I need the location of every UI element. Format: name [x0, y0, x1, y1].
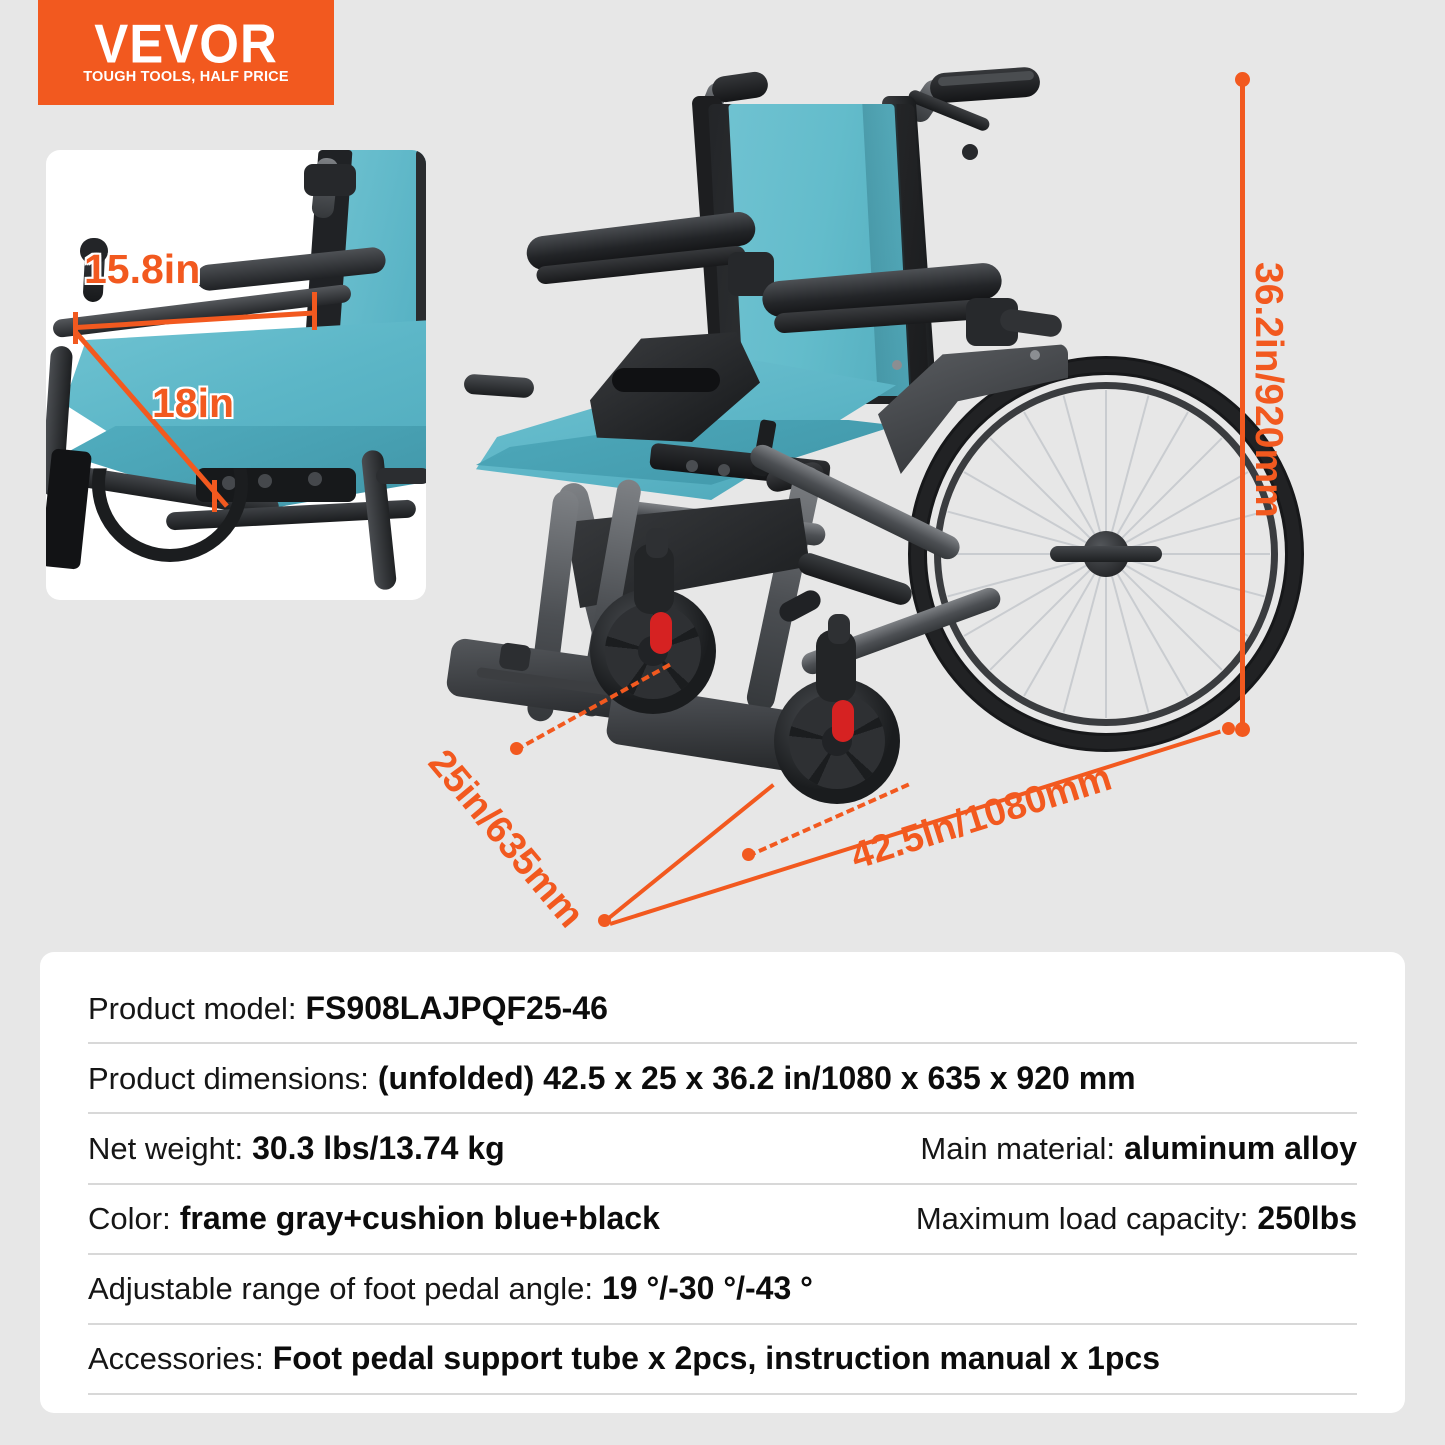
spec-value: 30.3 lbs/13.74 kg	[252, 1130, 505, 1167]
spec-label: Main material:	[920, 1131, 1115, 1167]
brand-name: VEVOR	[94, 18, 278, 70]
dimension-height-label: 36.2in/920mm	[1246, 262, 1290, 518]
spec-cell: Maximum load capacity: 250lbs	[916, 1200, 1357, 1237]
dim-endpoint-dot	[1222, 722, 1235, 735]
table-row: Adjustable range of foot pedal angle: 19…	[88, 1255, 1357, 1325]
specification-table: Product model: FS908LAJPQF25-46 Product …	[40, 952, 1405, 1413]
spec-label: Adjustable range of foot pedal angle:	[88, 1271, 593, 1307]
spec-value: Foot pedal support tube x 2pcs, instruct…	[273, 1340, 1160, 1377]
spec-cell: Accessories: Foot pedal support tube x 2…	[88, 1340, 1160, 1377]
spec-value: 19 °/-30 °/-43 °	[602, 1270, 813, 1307]
table-row: Accessories: Foot pedal support tube x 2…	[88, 1325, 1357, 1395]
product-spec-page: VEVOR TOUGH TOOLS, HALF PRICE	[0, 0, 1445, 1445]
dim-endpoint-dot	[1235, 72, 1250, 87]
spec-label: Product dimensions:	[88, 1061, 369, 1097]
dim-endpoint-dot	[742, 848, 755, 861]
spec-value: frame gray+cushion blue+black	[180, 1200, 660, 1237]
table-row: Product dimensions: (unfolded) 42.5 x 25…	[88, 1044, 1357, 1114]
spec-rows: Product model: FS908LAJPQF25-46 Product …	[88, 974, 1357, 1395]
spec-cell: Main material: aluminum alloy	[920, 1130, 1357, 1167]
caster-wheel-rear	[774, 678, 900, 804]
spec-label: Accessories:	[88, 1341, 264, 1377]
spec-cell: Product model: FS908LAJPQF25-46	[88, 990, 608, 1027]
dim-endpoint-dot	[510, 742, 523, 755]
spec-cell: Color: frame gray+cushion blue+black	[88, 1200, 660, 1237]
wheelchair-main-image	[440, 60, 1240, 890]
table-row: Product model: FS908LAJPQF25-46	[88, 974, 1357, 1044]
dim-endpoint-dot	[1235, 722, 1250, 737]
spec-cell: Net weight: 30.3 lbs/13.74 kg	[88, 1130, 505, 1167]
spec-label: Maximum load capacity:	[916, 1201, 1249, 1237]
spec-cell: Adjustable range of foot pedal angle: 19…	[88, 1270, 813, 1307]
seat-width-label: 15.8in	[84, 246, 200, 293]
seat-depth-label: 18in	[152, 380, 234, 427]
spec-value: FS908LAJPQF25-46	[306, 990, 608, 1027]
table-row: Net weight: 30.3 lbs/13.74 kg Main mater…	[88, 1114, 1357, 1184]
spec-value: 250lbs	[1257, 1200, 1357, 1237]
seat-closeup-illustration: 15.8in 18in	[46, 150, 426, 600]
vevor-logo: VEVOR TOUGH TOOLS, HALF PRICE	[38, 0, 334, 105]
seat-detail-inset: 15.8in 18in	[46, 150, 426, 600]
spec-label: Net weight:	[88, 1131, 243, 1167]
spec-value: aluminum alloy	[1124, 1130, 1357, 1167]
spec-value: (unfolded) 42.5 x 25 x 36.2 in/1080 x 63…	[378, 1060, 1136, 1097]
dim-endpoint-dot	[598, 914, 611, 927]
spec-cell: Product dimensions: (unfolded) 42.5 x 25…	[88, 1060, 1136, 1097]
table-row: Color: frame gray+cushion blue+black Max…	[88, 1185, 1357, 1255]
spec-label: Color:	[88, 1201, 171, 1237]
spec-label: Product model:	[88, 991, 297, 1027]
